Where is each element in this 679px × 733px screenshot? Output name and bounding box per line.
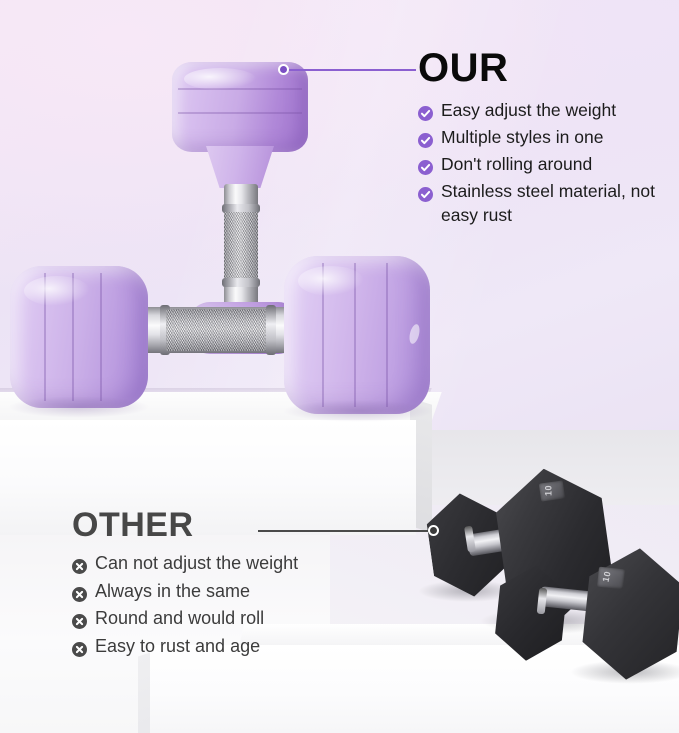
feature-text: Easy to rust and age	[95, 634, 392, 660]
list-item: Can not adjust the weight	[72, 551, 392, 577]
plate-groove	[178, 112, 302, 114]
check-circle-icon	[418, 157, 433, 172]
plate-highlight	[184, 68, 256, 90]
x-circle-icon	[72, 639, 87, 654]
our-feature-list: Easy adjust the weight Multiple styles i…	[418, 98, 670, 228]
right-weight-plate	[284, 256, 430, 414]
left-plate-shadow	[8, 396, 150, 418]
x-circle-icon	[72, 556, 87, 571]
feature-text: Always in the same	[95, 579, 392, 605]
our-callout-line	[284, 69, 416, 71]
check-circle-icon	[418, 130, 433, 145]
other-callout-dot	[428, 525, 439, 536]
feature-text: Multiple styles in one	[441, 125, 670, 150]
plate-groove	[100, 273, 102, 401]
feature-text: Round and would roll	[95, 606, 392, 632]
bar-collar	[266, 305, 276, 355]
other-feature-list: Can not adjust the weight Always in the …	[72, 551, 392, 659]
list-item: Always in the same	[72, 579, 392, 605]
hex-weight-label: 10	[543, 485, 553, 496]
feature-text: Stainless steel material, not easy rust	[441, 179, 670, 229]
plate-highlight	[298, 266, 364, 296]
list-item: Easy adjust the weight	[418, 98, 670, 123]
list-item: Don't rolling around	[418, 152, 670, 177]
hex-end-plate: 10	[597, 567, 625, 590]
plate-groove	[178, 88, 302, 90]
standing-weight-plate	[172, 62, 308, 152]
standing-neck	[206, 146, 274, 188]
hex-weight-label: 10	[601, 570, 613, 583]
x-circle-icon	[72, 611, 87, 626]
feature-text: Can not adjust the weight	[95, 551, 392, 577]
plate-groove	[386, 263, 388, 407]
right-plate-shadow	[282, 400, 434, 422]
our-callout-dot	[278, 64, 289, 75]
plate-highlight	[24, 276, 90, 306]
list-item: Easy to rust and age	[72, 634, 392, 660]
list-item: Multiple styles in one	[418, 125, 670, 150]
left-weight-plate	[10, 266, 148, 408]
infographic-canvas: 10 10 OUR Easy adjust the weight	[0, 0, 679, 733]
knurled-grip	[166, 309, 272, 351]
knurled-grip	[224, 212, 258, 284]
feature-text: Don't rolling around	[441, 152, 670, 177]
hex-end-plate: 10	[539, 480, 565, 501]
list-item: Stainless steel material, not easy rust	[418, 179, 670, 229]
plate-specular-dot	[408, 323, 422, 345]
other-feature-block: OTHER Can not adjust the weight Always i…	[72, 508, 392, 661]
x-circle-icon	[72, 584, 87, 599]
check-circle-icon	[418, 184, 433, 199]
other-title: OTHER	[72, 508, 392, 542]
our-title: OUR	[418, 48, 670, 88]
feature-text: Easy adjust the weight	[441, 98, 670, 123]
list-item: Round and would roll	[72, 606, 392, 632]
bar-collar	[222, 278, 260, 287]
our-feature-block: OUR Easy adjust the weight Multiple styl…	[418, 48, 670, 230]
check-circle-icon	[418, 103, 433, 118]
